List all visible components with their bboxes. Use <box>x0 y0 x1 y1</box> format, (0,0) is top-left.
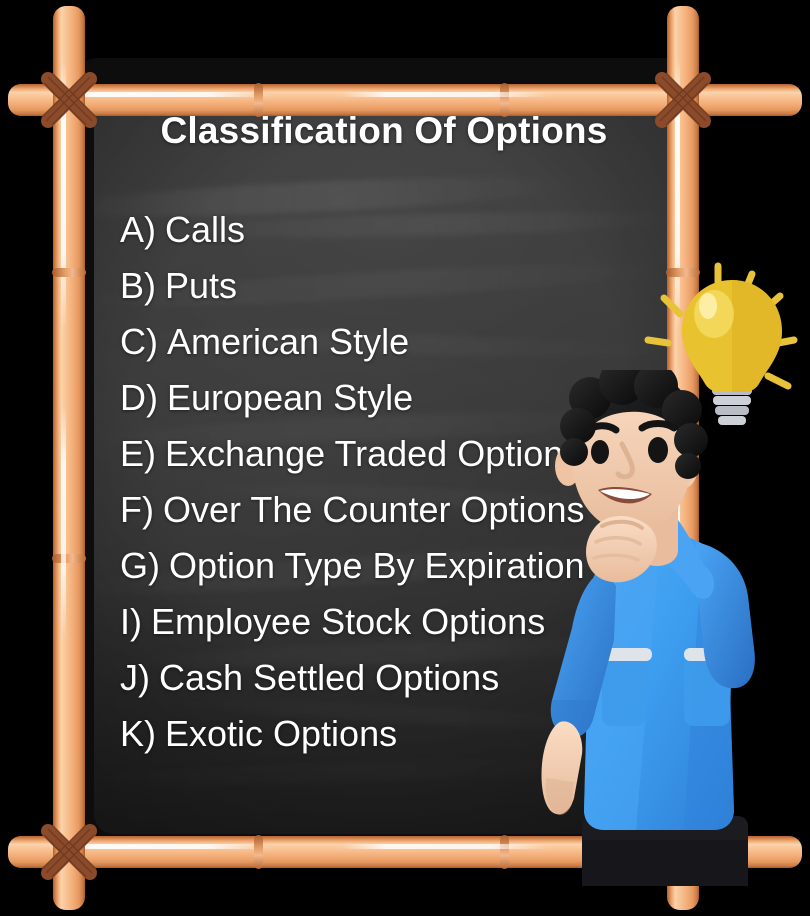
list-item: K)Exotic Options <box>120 706 720 762</box>
bamboo-node <box>254 835 263 869</box>
chalkboard: Classification Of Options A)Calls B)Puts… <box>72 58 696 858</box>
bamboo-node <box>52 268 86 277</box>
list-item-label: Puts <box>165 265 237 306</box>
list-item-marker: G) <box>120 545 160 586</box>
list-item-label: American Style <box>167 321 409 362</box>
list-item: J)Cash Settled Options <box>120 650 720 706</box>
list-item-marker: F) <box>120 489 154 530</box>
list-item: C)American Style <box>120 314 720 370</box>
list-item-label: Exotic Options <box>165 713 397 754</box>
bamboo-node <box>500 83 509 117</box>
list-item-label: Cash Settled Options <box>159 657 499 698</box>
list-item-marker: D) <box>120 377 158 418</box>
list-item-marker: K) <box>120 713 156 754</box>
list-item: F)Over The Counter Options <box>120 482 720 538</box>
list-item-marker: I) <box>120 601 142 642</box>
list-item-label: Exchange Traded Options <box>165 433 581 474</box>
list-item-marker: A) <box>120 209 156 250</box>
list-item-label: Over The Counter Options <box>163 489 585 530</box>
poster-canvas: Classification Of Options A)Calls B)Puts… <box>0 0 810 916</box>
bamboo-pole-right <box>667 6 699 910</box>
list-item-label: Employee Stock Options <box>151 601 545 642</box>
list-item: E)Exchange Traded Options <box>120 426 720 482</box>
bamboo-node <box>666 554 700 563</box>
list-item: A)Calls <box>120 202 720 258</box>
list-item-label: European Style <box>167 377 413 418</box>
list-item-marker: J) <box>120 657 150 698</box>
bamboo-node <box>500 835 509 869</box>
bamboo-pole-left <box>53 6 85 910</box>
list-item-marker: E) <box>120 433 156 474</box>
list-item: G)Option Type By Expiration <box>120 538 720 594</box>
list-item-label: Calls <box>165 209 245 250</box>
classification-list: A)Calls B)Puts C)American Style D)Europe… <box>120 202 720 762</box>
list-item: I)Employee Stock Options <box>120 594 720 650</box>
list-item-label: Option Type By Expiration <box>169 545 585 586</box>
list-item-marker: B) <box>120 265 156 306</box>
bamboo-node <box>254 83 263 117</box>
bamboo-node <box>666 268 700 277</box>
list-item: B)Puts <box>120 258 720 314</box>
page-title: Classification Of Options <box>72 110 696 152</box>
list-item: D)European Style <box>120 370 720 426</box>
list-item-marker: C) <box>120 321 158 362</box>
bamboo-node <box>52 554 86 563</box>
